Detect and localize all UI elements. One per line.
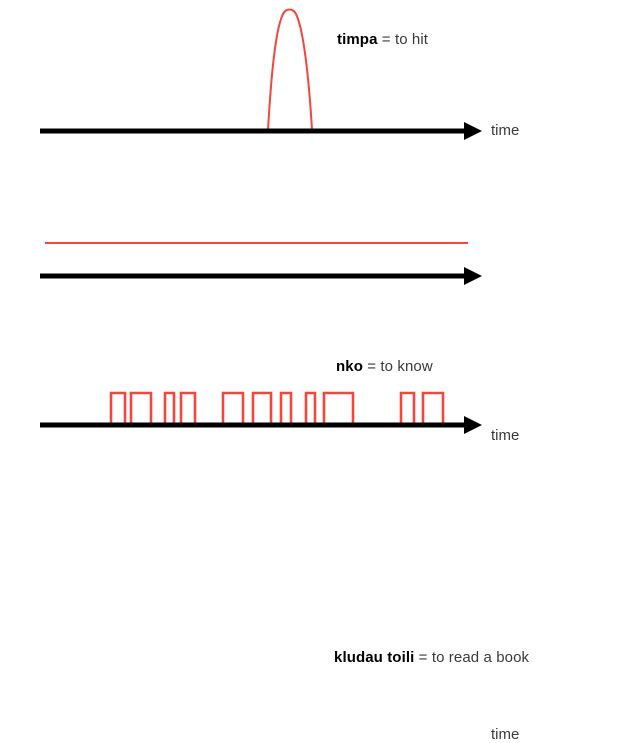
panel-timpa: timpa = to hit time [0, 0, 622, 160]
pulse-rect [306, 393, 315, 425]
panel-timpa-graphic [0, 0, 622, 160]
arrow-head-icon [464, 122, 482, 140]
signal-pulse-train-iterative [111, 393, 443, 425]
figure-canvas: timpa = to hit time nko = to know time [0, 0, 622, 452]
gloss-kludau-toili: kludau toili = to read a book [334, 649, 529, 667]
panel-kludau-toili-graphic [0, 310, 622, 452]
pulse-rect [423, 393, 443, 425]
time-axis-label: time [491, 122, 519, 139]
equals-sign: = [382, 31, 391, 48]
gloss-timpa: timpa = to hit [337, 31, 428, 49]
meaning-label: to read a book [432, 649, 529, 666]
term-label: kludau toili [334, 649, 414, 666]
pulse-rect [253, 393, 271, 425]
pulse-rect [223, 393, 243, 425]
pulse-rect [401, 393, 414, 425]
equals-sign: = [419, 649, 428, 666]
panel-nko: nko = to know time [0, 160, 622, 310]
pulse-rect [165, 393, 174, 425]
pulse-rect [324, 393, 353, 425]
arrow-head-icon [464, 267, 482, 285]
meaning-label: to hit [395, 31, 428, 48]
time-axis-label: time [491, 726, 519, 743]
pulse-rect [131, 393, 151, 425]
pulse-rect [111, 393, 125, 425]
panel-nko-graphic [0, 160, 622, 310]
term-label: timpa [337, 31, 378, 48]
panel-kludau-toili: kludau toili = to read a book time [0, 310, 622, 452]
pulse-rect [181, 393, 195, 425]
signal-curve-punctual [268, 10, 312, 131]
pulse-rect [281, 393, 291, 425]
arrow-head-icon [464, 416, 482, 434]
